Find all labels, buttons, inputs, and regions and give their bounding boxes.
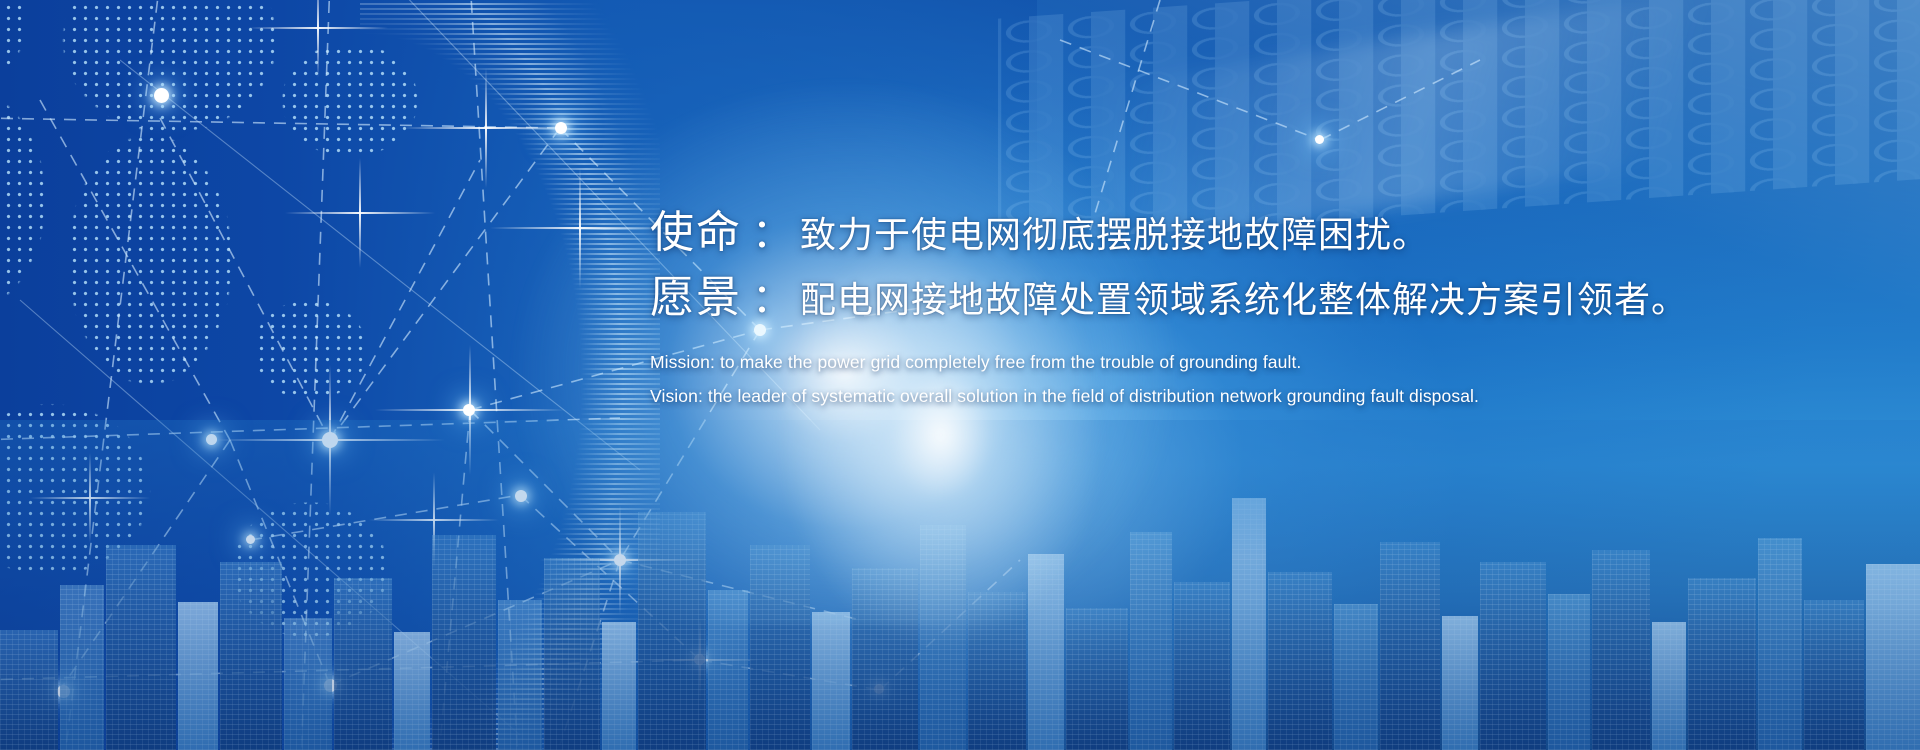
mission-keyword: 使命	[650, 205, 742, 260]
vision-colon: ：	[742, 274, 800, 324]
network-node	[1315, 135, 1324, 144]
mission-colon: ：	[742, 209, 800, 259]
vision-text: 配电网接地故障处置领域系统化整体解决方案引领者。	[800, 276, 1688, 324]
hero-banner: 使命 ： 致力于使电网彻底摆脱接地故障困扰。 愿景 ： 配电网接地故障处置领域系…	[0, 0, 1920, 750]
network-node	[463, 404, 475, 416]
mission-vision-copy: 使命 ： 致力于使电网彻底摆脱接地故障困扰。 愿景 ： 配电网接地故障处置领域系…	[650, 205, 1880, 407]
network-node	[154, 88, 169, 103]
vision-line: 愿景 ： 配电网接地故障处置领域系统化整体解决方案引领者。	[650, 270, 1880, 325]
mission-text: 致力于使电网彻底摆脱接地故障困扰。	[800, 211, 1429, 259]
vision-english-line: Vision: the leader of systematic overall…	[650, 386, 1880, 407]
vision-keyword: 愿景	[650, 270, 742, 325]
mission-english-line: Mission: to make the power grid complete…	[650, 352, 1880, 373]
mission-line: 使命 ： 致力于使电网彻底摆脱接地故障困扰。	[650, 205, 1880, 260]
